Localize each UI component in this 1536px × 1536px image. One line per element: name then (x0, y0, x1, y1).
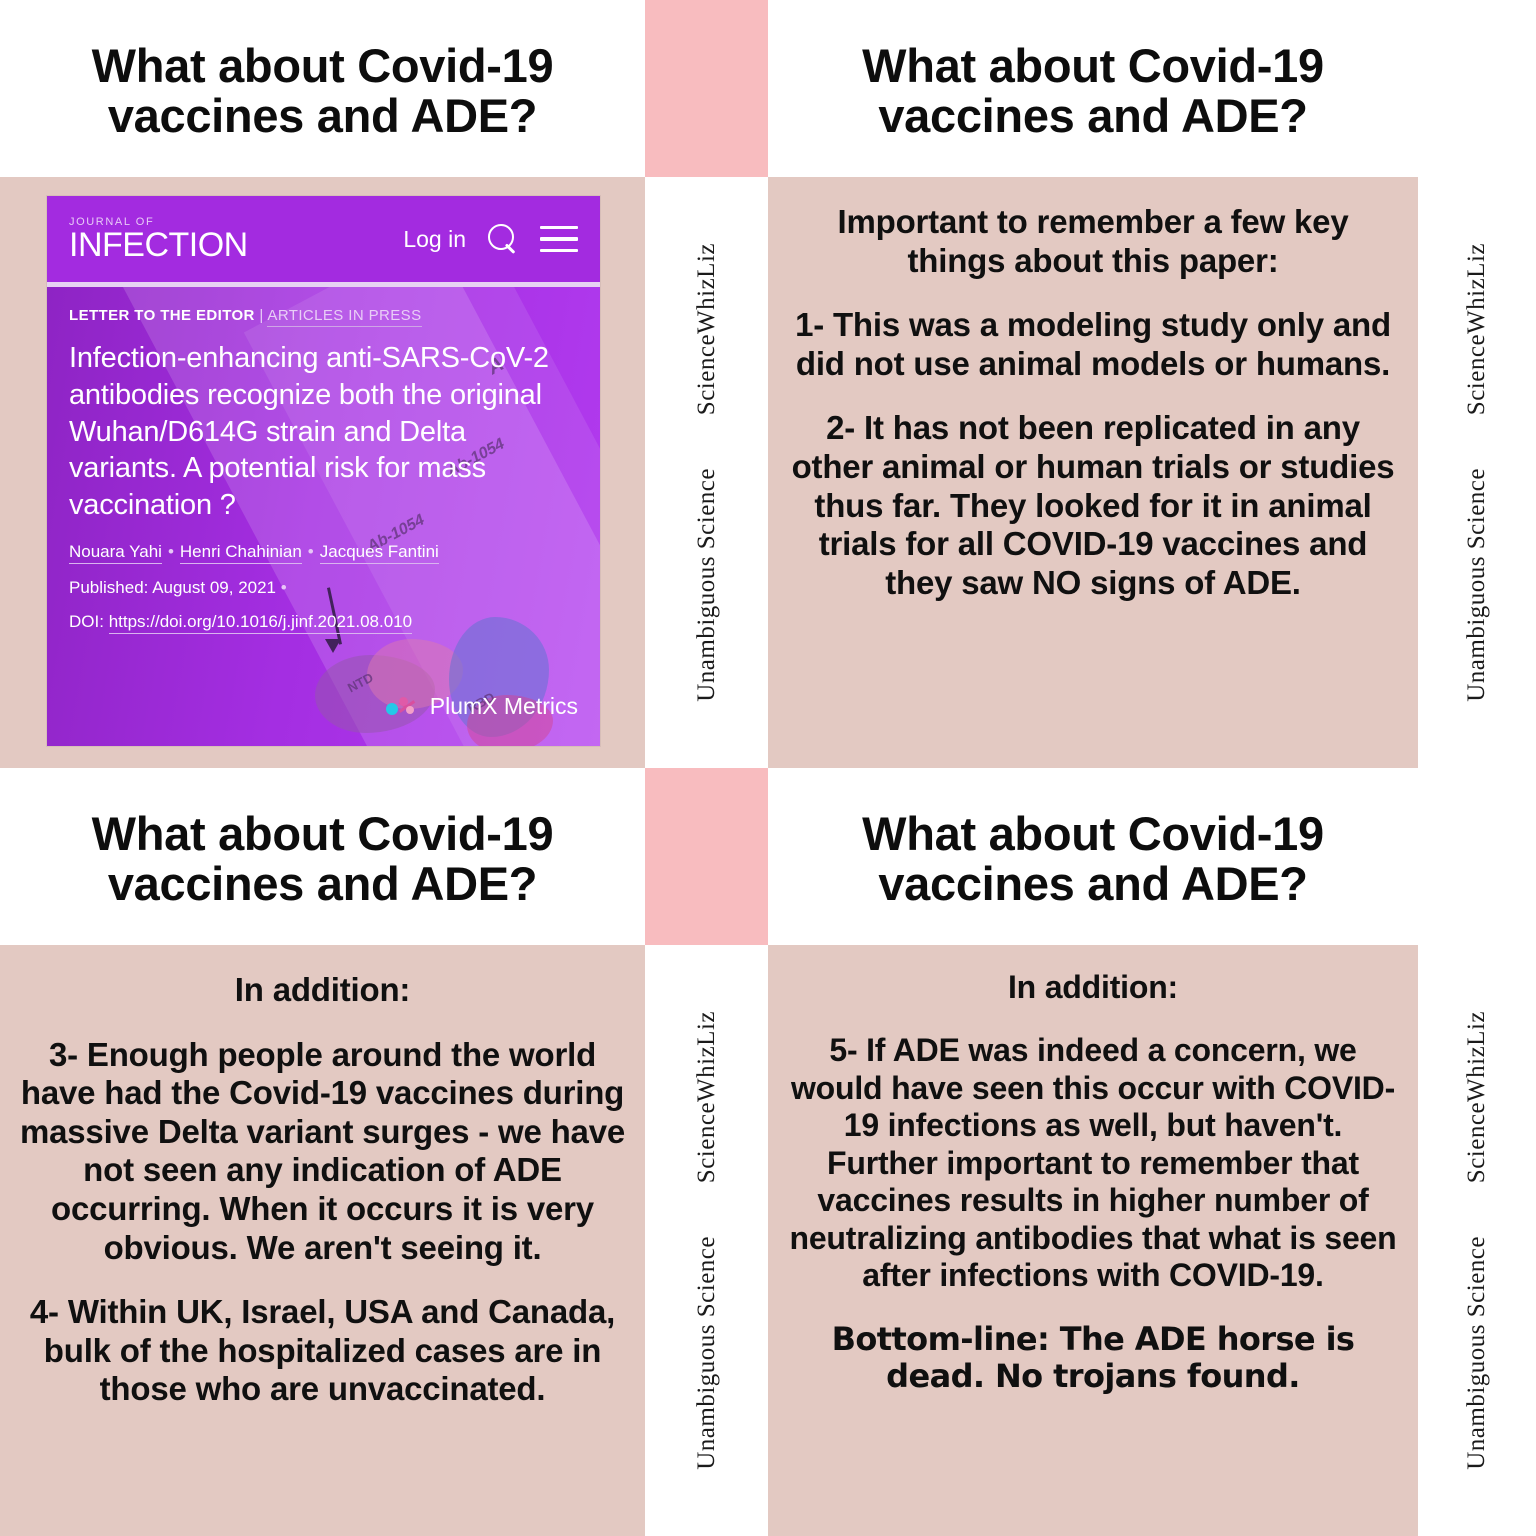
author-separator-2: • (302, 542, 320, 561)
watermark-brand: Unambiguous Science (1463, 468, 1491, 702)
author-separator-1: • (162, 542, 180, 561)
title-line-1: What about Covid-19 (862, 809, 1324, 859)
author-2[interactable]: Henri Chahinian (180, 542, 302, 564)
journal-kicker-separator: | (259, 307, 263, 324)
plumx-icon (386, 695, 420, 719)
watermark-handle: ScienceWhizLiz (693, 1011, 721, 1183)
published-label: Published: (69, 578, 148, 597)
slide-grid: What about Covid-19 vaccines and ADE? JO… (0, 0, 1536, 1536)
panel-title-top-left: What about Covid-19 vaccines and ADE? (0, 0, 645, 177)
journal-article-body: A Ab-1054 Ab-1054 NTD RBD LETTER TO THE … (47, 287, 600, 746)
watermark-brand: Unambiguous Science (693, 468, 721, 702)
watermark-column-center-bottom: ScienceWhizLiz Unambiguous Science (645, 945, 768, 1536)
watermark-column-right-bottom: ScienceWhizLiz Unambiguous Science (1418, 945, 1536, 1536)
hamburger-menu-icon[interactable] (540, 226, 578, 252)
panel-title-top-right: What about Covid-19 vaccines and ADE? (768, 0, 1418, 177)
gutter-pink-bottom (645, 768, 768, 945)
journal-header: JOURNAL OF INFECTION Log in (47, 196, 600, 282)
bottom-right-lede: In addition: (786, 969, 1400, 1006)
panel-body-bottom-right: In addition: 5- If ADE was indeed a conc… (768, 945, 1418, 1536)
title-line-2: vaccines and ADE? (92, 859, 554, 909)
gutter-white-bottom-right (1418, 768, 1536, 945)
top-right-lede: Important to remember a few key things a… (786, 203, 1400, 280)
bottom-right-bottom-line: Bottom-line: The ADE horse is dead. No t… (786, 1321, 1400, 1396)
journal-logo-small: JOURNAL OF (69, 216, 248, 228)
panel-body-top-right: Important to remember a few key things a… (768, 177, 1418, 768)
watermark-brand: Unambiguous Science (1463, 1236, 1491, 1470)
panel-title-bottom-right: What about Covid-19 vaccines and ADE? (768, 768, 1418, 945)
search-icon[interactable] (488, 224, 518, 254)
journal-kicker: LETTER TO THE EDITOR | ARTICLES IN PRESS (69, 307, 578, 324)
bottom-left-point-3: 3- Enough people around the world have h… (14, 1036, 631, 1268)
panel-body-bottom-left: In addition: 3- Enough people around the… (0, 945, 645, 1536)
top-right-point-2: 2- It has not been replicated in any oth… (786, 409, 1400, 602)
watermark-handle: ScienceWhizLiz (1463, 1011, 1491, 1183)
watermark-column-right-top: ScienceWhizLiz Unambiguous Science (1418, 177, 1536, 768)
panel-bottom-left: What about Covid-19 vaccines and ADE? In… (0, 768, 645, 1536)
journal-doi: DOI: https://doi.org/10.1016/j.jinf.2021… (69, 612, 578, 632)
bottom-right-point-5: 5- If ADE was indeed a concern, we would… (786, 1032, 1400, 1294)
journal-author-list: Nouara Yahi•Henri Chahinian•Jacques Fant… (69, 542, 578, 562)
watermark-column-center-top: ScienceWhizLiz Unambiguous Science (645, 177, 768, 768)
watermark-handle: ScienceWhizLiz (693, 243, 721, 415)
journal-kicker-type: LETTER TO THE EDITOR (69, 307, 255, 324)
journal-article-title[interactable]: Infection-enhancing anti-SARS-CoV-2 anti… (69, 340, 578, 524)
title-line-1: What about Covid-19 (862, 41, 1324, 91)
doi-link[interactable]: https://doi.org/10.1016/j.jinf.2021.08.0… (109, 612, 412, 634)
bottom-left-point-4: 4- Within UK, Israel, USA and Canada, bu… (14, 1293, 631, 1409)
title-line-2: vaccines and ADE? (92, 91, 554, 141)
panel-top-right: What about Covid-19 vaccines and ADE? Im… (768, 0, 1418, 768)
author-3[interactable]: Jacques Fantini (320, 542, 439, 564)
journal-login-link[interactable]: Log in (403, 226, 466, 253)
watermark-handle: ScienceWhizLiz (1463, 243, 1491, 415)
bottom-left-lede: In addition: (14, 971, 631, 1010)
journal-logo[interactable]: JOURNAL OF INFECTION (69, 216, 248, 262)
watermark-brand: Unambiguous Science (693, 1236, 721, 1470)
journal-logo-big: INFECTION (69, 228, 248, 262)
panel-bottom-right: What about Covid-19 vaccines and ADE? In… (768, 768, 1418, 1536)
plumx-metrics[interactable]: PlumX Metrics (386, 693, 578, 720)
gutter-pink-top (645, 0, 768, 177)
journal-article-card[interactable]: JOURNAL OF INFECTION Log in A Ab-1054 Ab… (47, 196, 600, 746)
title-line-1: What about Covid-19 (92, 41, 554, 91)
title-line-2: vaccines and ADE? (862, 91, 1324, 141)
doi-label: DOI: (69, 612, 104, 631)
top-right-point-1: 1- This was a modeling study only and di… (786, 306, 1400, 383)
title-line-1: What about Covid-19 (92, 809, 554, 859)
panel-title-bottom-left: What about Covid-19 vaccines and ADE? (0, 768, 645, 945)
journal-kicker-status: ARTICLES IN PRESS (267, 307, 421, 327)
plumx-label: PlumX Metrics (430, 693, 578, 720)
figure-arrow-head (325, 639, 341, 653)
gutter-white-top-right (1418, 0, 1536, 177)
journal-header-rule (47, 282, 600, 287)
published-date: August 09, 2021 (152, 578, 276, 597)
journal-published-meta: Published: August 09, 2021 • (69, 578, 578, 598)
published-dot: • (281, 578, 287, 597)
author-1[interactable]: Nouara Yahi (69, 542, 162, 564)
title-line-2: vaccines and ADE? (862, 859, 1324, 909)
